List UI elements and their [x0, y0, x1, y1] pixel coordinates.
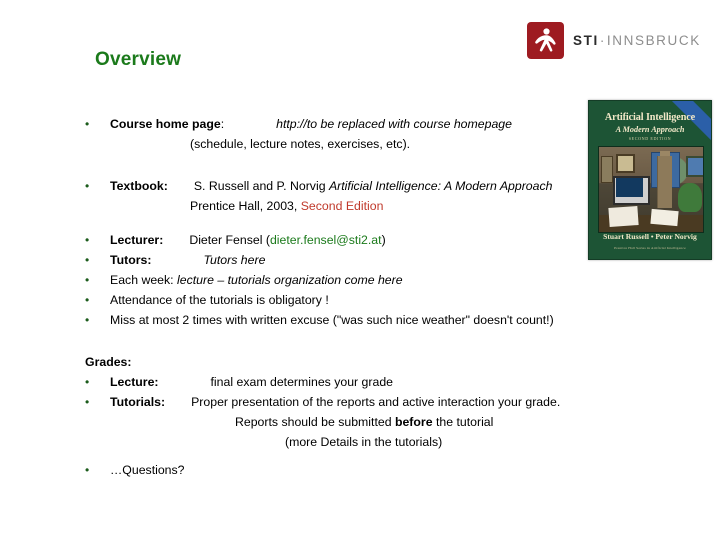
bullet-icon: •	[85, 294, 99, 306]
bullet-icon: •	[85, 254, 99, 266]
lecturer-close-paren: )	[382, 233, 386, 247]
list-item-lecturer: • Lecturer:Dieter Fensel (dieter.fensel@…	[85, 234, 645, 254]
more-details-text: (more Details in the tutorials)	[85, 436, 442, 448]
bullet-icon: •	[85, 274, 99, 286]
sti-logo-mark	[527, 22, 564, 59]
grades-tutorials-label: Tutorials:	[110, 395, 165, 409]
course-home-label: Course home page	[110, 117, 221, 131]
list-item-questions: • …Questions?	[85, 464, 645, 484]
bullet-icon: •	[85, 234, 99, 246]
list-item-textbook: • Textbook:S. Russell and P. Norvig Arti…	[85, 180, 645, 200]
textbook-title: Artificial Intelligence: A Modern Approa…	[329, 179, 553, 193]
grades-lecture-line: Lecture:final exam determines your grade	[85, 376, 393, 388]
reports-post: the tutorial	[433, 415, 494, 429]
reports-bold: before	[395, 415, 433, 429]
grades-heading-label: Grades:	[85, 355, 131, 369]
bullet-icon: •	[85, 396, 99, 408]
list-item-tutors: • Tutors:Tutors here	[85, 254, 645, 274]
textbook-line: Textbook:S. Russell and P. Norvig Artifi…	[85, 180, 552, 192]
logo-text-innsbruck: INNSBRUCK	[607, 33, 701, 48]
logo-text-separator: ·	[600, 33, 606, 48]
tutors-value: Tutors here	[203, 253, 265, 267]
course-home-colon: :	[221, 117, 224, 131]
grades-tutorials-line: Tutorials:Proper presentation of the rep…	[85, 396, 560, 408]
photo-plant	[678, 183, 702, 212]
bullet-icon: •	[85, 464, 99, 476]
attendance-text: Attendance of the tutorials is obligator…	[85, 294, 329, 306]
grades-tutorials-value: Proper presentation of the reports and a…	[191, 395, 560, 409]
lecturer-line: Lecturer:Dieter Fensel (dieter.fensel@st…	[85, 234, 386, 246]
lecturer-email-link[interactable]: dieter.fensel@sti2.at	[270, 233, 382, 247]
bullet-icon: •	[85, 180, 99, 192]
grades-heading: Grades:	[85, 356, 131, 368]
sti-innsbruck-logo: STI·INNSBRUCK	[527, 22, 701, 59]
spacer-3	[85, 334, 645, 356]
person-figure-icon	[527, 22, 564, 59]
list-item-grades-lecture: • Lecture:final exam determines your gra…	[85, 376, 645, 396]
lecturer-name: Dieter Fensel (	[189, 233, 270, 247]
page-title: Overview	[95, 49, 181, 71]
grades-lecture-label: Lecture:	[110, 375, 159, 389]
questions-text: …Questions?	[85, 464, 185, 476]
each-week-line: Each week: lecture – tutorials organizat…	[85, 274, 403, 286]
sti-logo-wordmark: STI·INNSBRUCK	[573, 34, 701, 48]
reports-pre: Reports should be submitted	[235, 415, 395, 429]
miss-text: Miss at most 2 times with written excuse…	[85, 314, 554, 326]
grades-lecture-value: final exam determines your grade	[211, 375, 394, 389]
course-home-line: Course home page:http://to be replaced w…	[85, 118, 512, 130]
textbook-publisher-line: Prentice Hall, 2003, Second Edition	[85, 200, 383, 212]
lecturer-label: Lecturer:	[110, 233, 163, 247]
slide-canvas: STI·INNSBRUCK Overview Artificial Intell…	[0, 0, 720, 540]
photo-painting	[686, 156, 704, 177]
tutors-label: Tutors:	[110, 253, 151, 267]
list-item-textbook-publisher: Prentice Hall, 2003, Second Edition	[85, 200, 645, 220]
bullet-icon: •	[85, 314, 99, 326]
reports-line: Reports should be submitted before the t…	[85, 416, 493, 428]
spacer-1	[85, 158, 645, 180]
list-item-course-home: • Course home page:http://to be replaced…	[85, 118, 645, 138]
course-home-url: http://to be replaced with course homepa…	[276, 117, 512, 131]
textbook-publisher: Prentice Hall, 2003,	[190, 199, 301, 213]
course-home-note: (schedule, lecture notes, exercises, etc…	[85, 138, 410, 150]
list-item-miss: • Miss at most 2 times with written excu…	[85, 314, 645, 334]
list-item-course-home-note: (schedule, lecture notes, exercises, etc…	[85, 138, 645, 158]
photo-paper-right	[650, 209, 678, 227]
list-item-each-week: • Each week: lecture – tutorials organiz…	[85, 274, 645, 294]
photo-tower	[657, 156, 672, 209]
tutors-line: Tutors:Tutors here	[85, 254, 265, 266]
slide-body: • Course home page:http://to be replaced…	[85, 118, 645, 484]
textbook-edition: Second Edition	[301, 199, 384, 213]
logo-text-sti: STI	[573, 33, 599, 48]
each-week-label: Each week:	[110, 273, 177, 287]
list-item-attendance: • Attendance of the tutorials is obligat…	[85, 294, 645, 314]
more-details-row: (more Details in the tutorials)	[85, 436, 645, 456]
grades-heading-row: Grades:	[85, 356, 645, 376]
bullet-icon: •	[85, 118, 99, 130]
textbook-authors: S. Russell and P. Norvig	[194, 179, 329, 193]
spacer-2	[85, 220, 645, 234]
each-week-value: lecture – tutorials organization come he…	[177, 273, 403, 287]
list-item-grades-tutorials: • Tutorials:Proper presentation of the r…	[85, 396, 645, 416]
reports-row: Reports should be submitted before the t…	[85, 416, 645, 436]
textbook-label: Textbook:	[110, 179, 168, 193]
bullet-icon: •	[85, 376, 99, 388]
